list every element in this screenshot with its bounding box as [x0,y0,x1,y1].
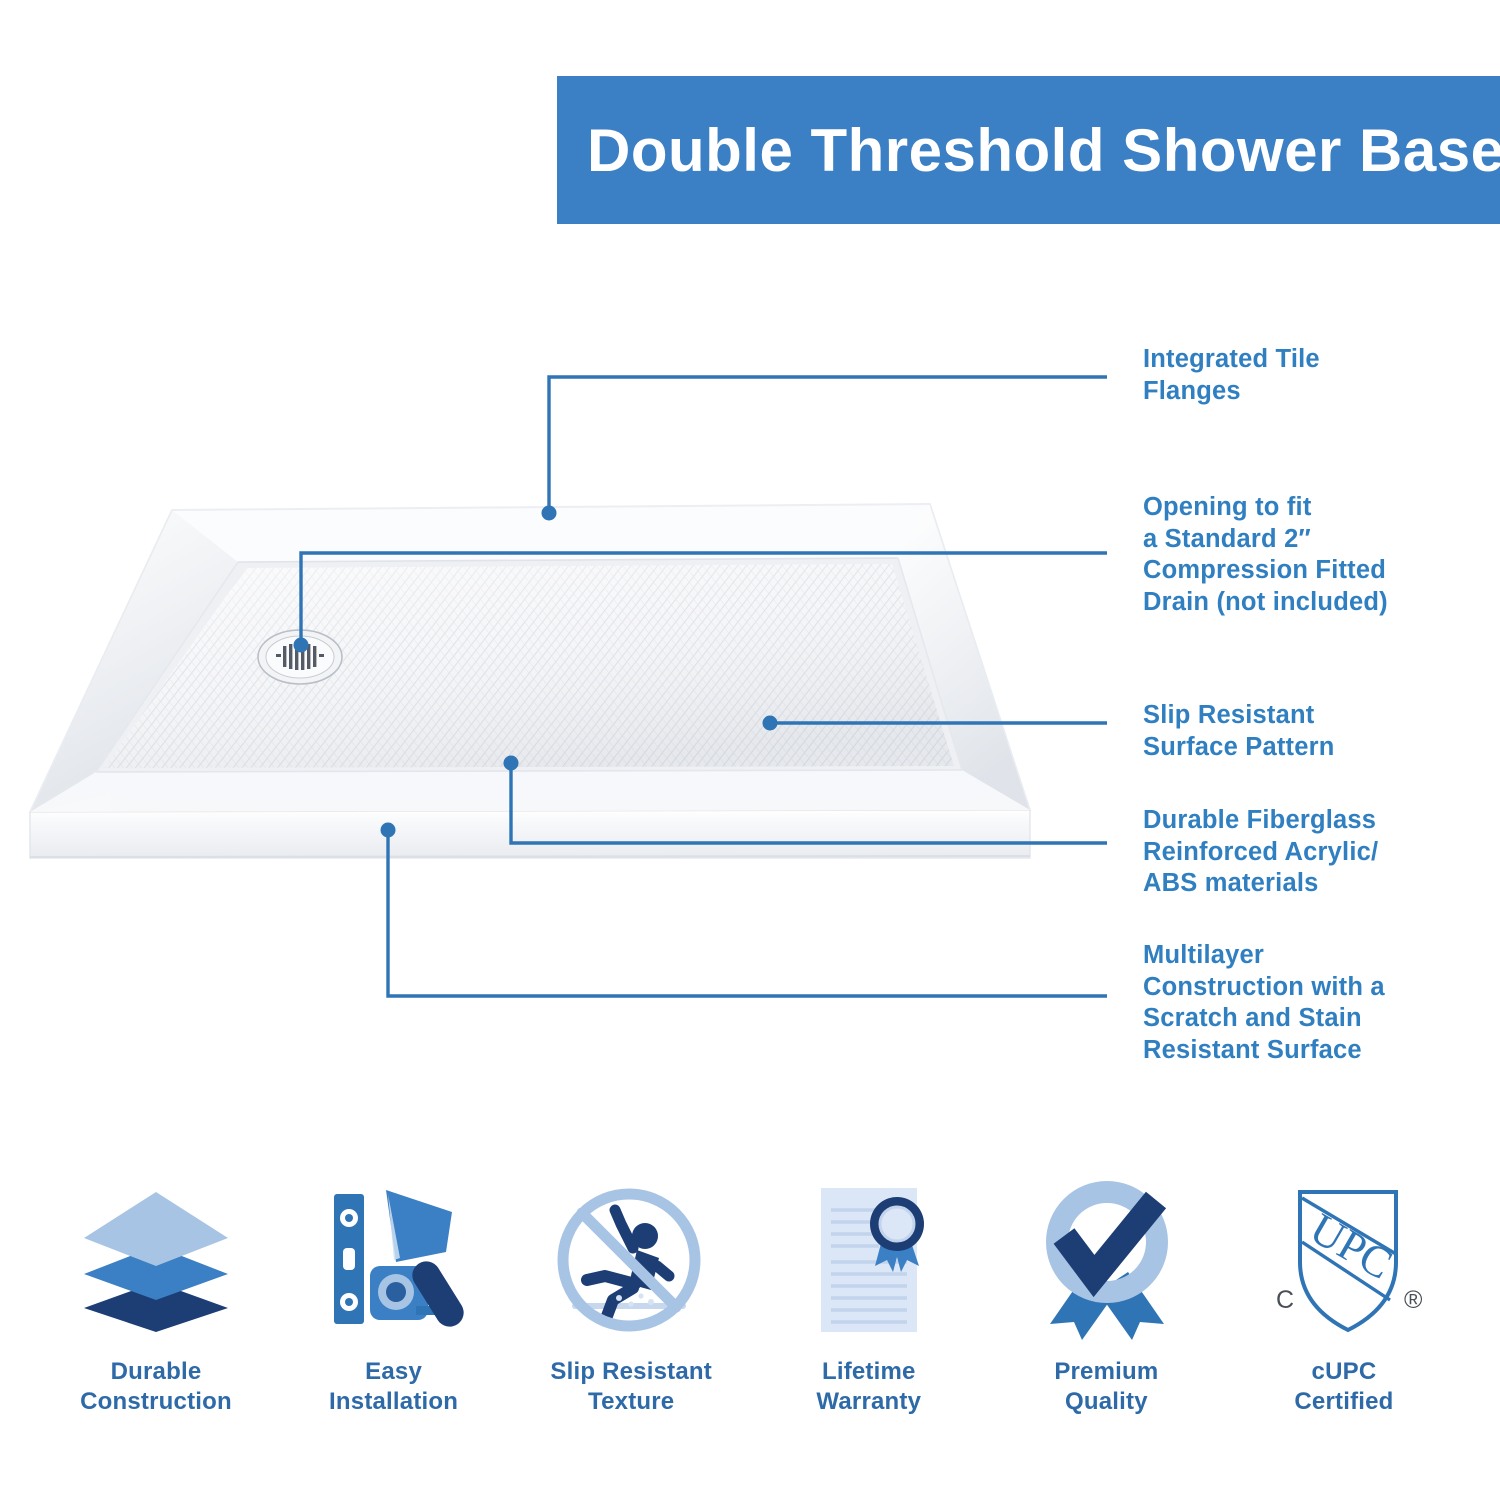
callout-line: Construction with a [1143,972,1385,1004]
feature-badge-row: Durable Construction [0,1175,1500,1465]
badge-label-line: Lifetime [816,1357,921,1387]
infographic-page: Double Threshold Shower Base [0,0,1500,1500]
badge-label: cUPC Certified [1294,1357,1393,1417]
badge-lifetime-warranty: Lifetime Warranty [761,1175,977,1417]
callout-durable-materials: Durable Fiberglass Reinforced Acrylic/ A… [1143,805,1378,900]
callout-line: a Standard 2″ [1143,524,1388,556]
callout-line: Slip Resistant [1143,700,1335,732]
base-front-face [30,810,1030,858]
badge-label-line: cUPC [1294,1357,1393,1387]
badge-label: Durable Construction [80,1357,232,1417]
badge-label-line: Installation [329,1387,458,1417]
badge-easy-installation: Easy Installation [286,1175,502,1417]
badge-label-line: Durable [80,1357,232,1387]
badge-label: Slip Resistant Texture [550,1357,712,1417]
badge-label-line: Certified [1294,1387,1393,1417]
title-banner: Double Threshold Shower Base [557,76,1500,224]
callout-line: Durable Fiberglass [1143,805,1378,837]
layers-icon [66,1175,246,1345]
callout-integrated-tile-flanges: Integrated Tile Flanges [1143,344,1320,407]
callout-drain-opening: Opening to fit a Standard 2″ Compression… [1143,492,1388,618]
badge-label-line: Quality [1054,1387,1158,1417]
threshold-front-wall [30,770,1030,812]
badge-label-line: Easy [329,1357,458,1387]
product-illustration [0,440,1120,940]
callout-slip-resistant-surface: Slip Resistant Surface Pattern [1143,700,1335,763]
badge-label-line: Texture [550,1387,712,1417]
cupc-shield-icon: UPC C ® [1254,1175,1434,1345]
badge-cupc-certified: UPC C ® cUPC Certified [1236,1175,1452,1417]
no-slip-icon [541,1175,721,1345]
badge-label-line: Construction [80,1387,232,1417]
callout-line: ABS materials [1143,868,1378,900]
cupc-right-mark: ® [1404,1286,1423,1314]
page-title: Double Threshold Shower Base [587,116,1500,185]
callout-line: Opening to fit [1143,492,1388,524]
cupc-left-mark: C [1276,1286,1294,1314]
callout-line: Flanges [1143,376,1320,408]
callout-line: Multilayer [1143,940,1385,972]
badge-label-line: Premium [1054,1357,1158,1387]
drain-cover [258,630,342,684]
badge-label-line: Warranty [816,1387,921,1417]
badge-premium-quality: Premium Quality [998,1175,1214,1417]
callout-line: Scratch and Stain [1143,1003,1385,1035]
threshold-back-wall [172,504,930,562]
callout-line: Surface Pattern [1143,732,1335,764]
callout-multilayer-construction: Multilayer Construction with a Scratch a… [1143,940,1385,1066]
callout-line: Compression Fitted [1143,555,1388,587]
badge-label: Premium Quality [1054,1357,1158,1417]
level-trowel-icon [304,1175,484,1345]
badge-label: Easy Installation [329,1357,458,1417]
callout-line: Reinforced Acrylic/ [1143,837,1378,869]
quality-ribbon-icon [1016,1175,1196,1345]
badge-label-line: Slip Resistant [550,1357,712,1387]
badge-slip-resistant-texture: Slip Resistant Texture [523,1175,739,1417]
callout-line: Drain (not included) [1143,587,1388,619]
badge-durable-construction: Durable Construction [48,1175,264,1417]
warranty-certificate-icon [779,1175,959,1345]
callout-line: Resistant Surface [1143,1035,1385,1067]
badge-label: Lifetime Warranty [816,1357,921,1417]
callout-line: Integrated Tile [1143,344,1320,376]
